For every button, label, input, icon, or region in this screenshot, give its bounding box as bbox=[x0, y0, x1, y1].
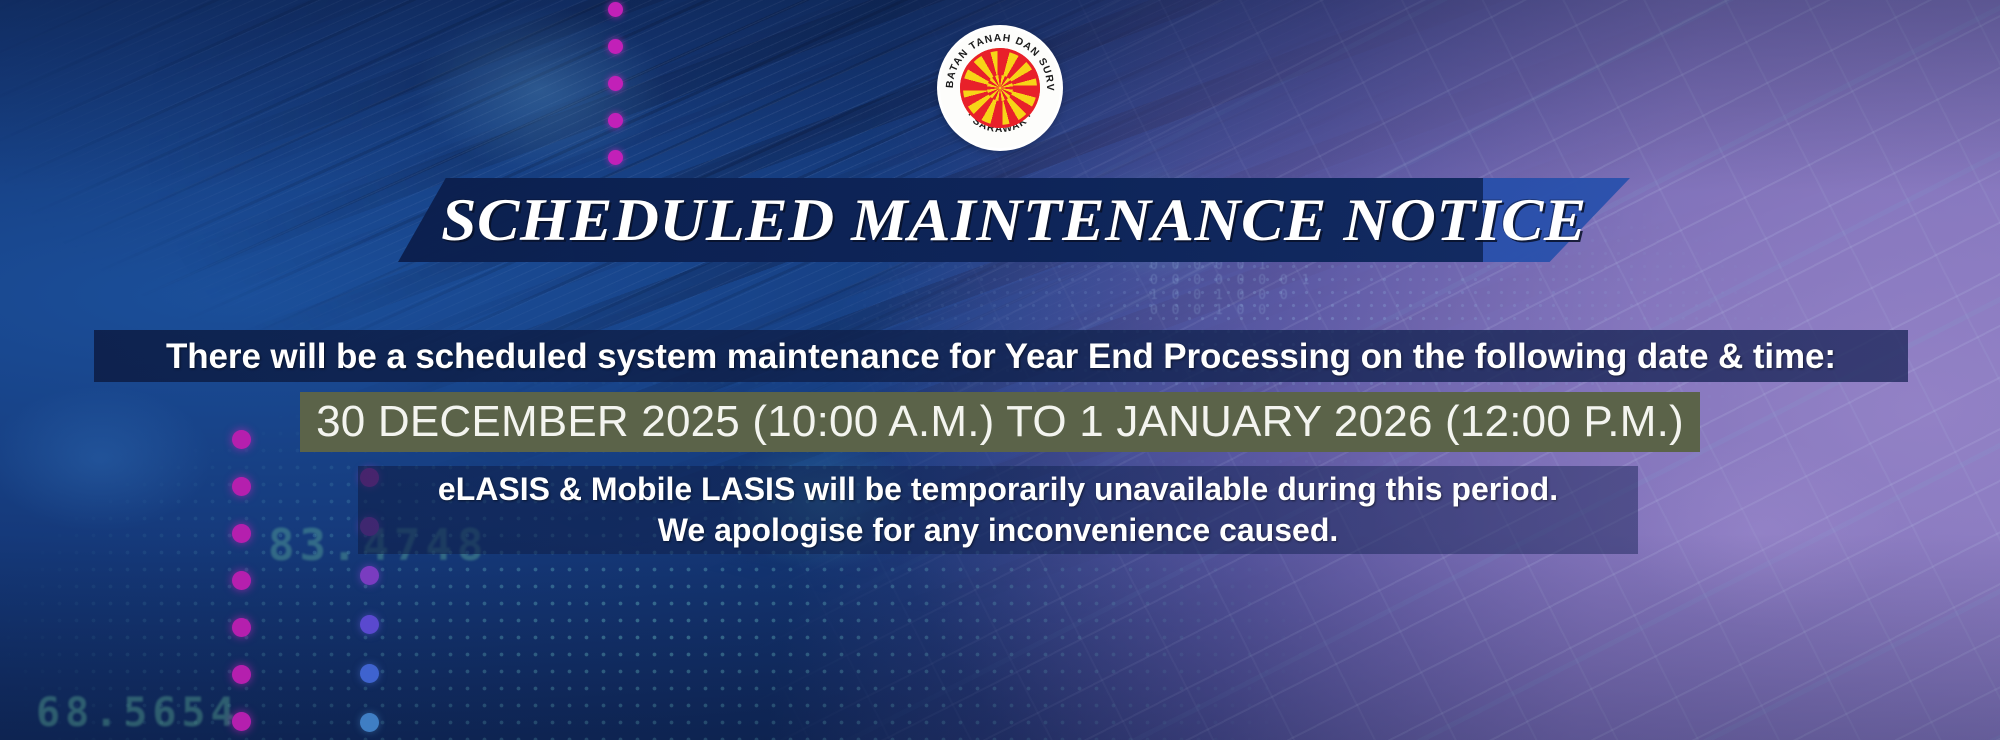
background-numeric-readout-2: 68.5654 bbox=[36, 690, 240, 736]
accent-dot-column-left bbox=[232, 430, 251, 740]
closing-message-bar: eLASIS & Mobile LASIS will be temporaril… bbox=[358, 466, 1638, 554]
department-logo: JABATAN TANAH DAN SURVEI · SARAWAK · bbox=[940, 28, 1060, 148]
maintenance-notice-banner: 83.4748 68.5654 0 0 0 0 0 10 0 0 0 0 0 0… bbox=[0, 0, 2000, 740]
page-title: SCHEDULED MAINTENANCE NOTICE bbox=[361, 178, 1667, 262]
closing-line-2: We apologise for any inconvenience cause… bbox=[658, 511, 1339, 550]
title-banner: SCHEDULED MAINTENANCE NOTICE bbox=[398, 178, 1630, 262]
binary-row: 0 0 0 0 0 0 0 1 bbox=[1150, 273, 1450, 288]
background-binary-strip: 0 0 0 0 0 10 0 0 0 0 0 0 11 0 0 1 0 0 00… bbox=[1150, 258, 1450, 318]
intro-line-bar: There will be a scheduled system mainten… bbox=[94, 330, 1908, 382]
binary-row: 1 0 0 1 0 0 0 bbox=[1150, 288, 1450, 303]
binary-row: 0 0 0 1 0 0 bbox=[1150, 303, 1450, 318]
logo-starburst-emblem bbox=[960, 48, 1040, 128]
intro-line-text: There will be a scheduled system mainten… bbox=[166, 339, 1836, 374]
accent-dot-column-top bbox=[608, 2, 623, 202]
date-range-bar: 30 DECEMBER 2025 (10:00 A.M.) TO 1 JANUA… bbox=[300, 392, 1700, 452]
closing-line-1: eLASIS & Mobile LASIS will be temporaril… bbox=[438, 470, 1558, 509]
date-range-text: 30 DECEMBER 2025 (10:00 A.M.) TO 1 JANUA… bbox=[316, 400, 1684, 444]
logo-cross-vertical bbox=[998, 49, 1003, 127]
logo-cross-horizontal bbox=[961, 86, 1039, 91]
